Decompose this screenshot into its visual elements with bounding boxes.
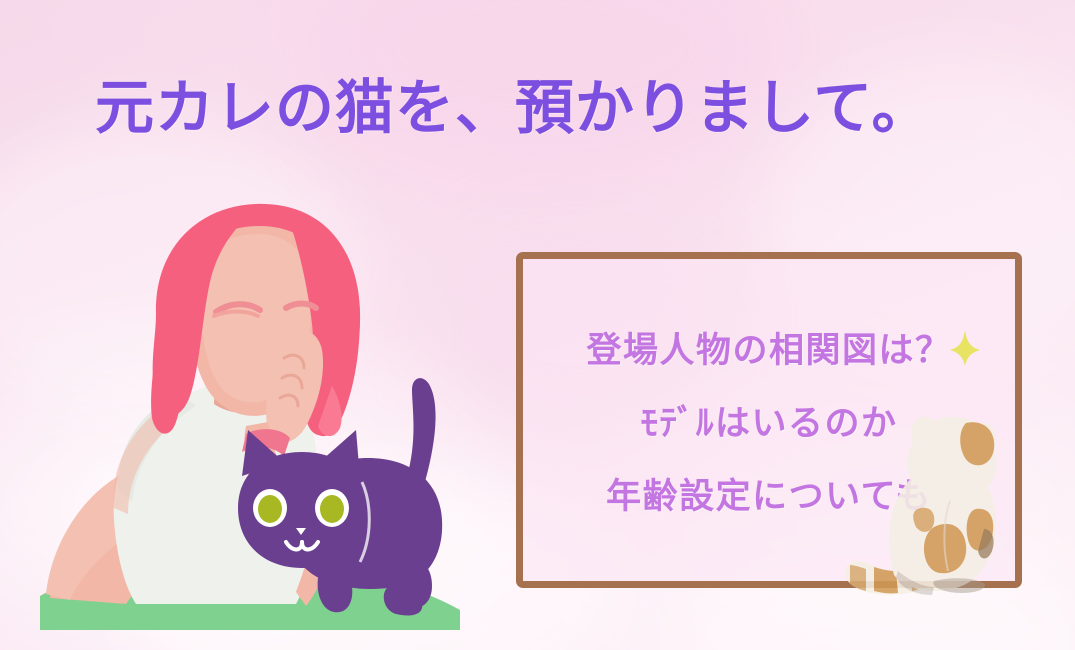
graphic-canvas: 元カレの猫を、預かりまして。: [0, 0, 1075, 650]
woman-with-purple-cat-illustration: [40, 190, 470, 630]
calico-cat-photo: [838, 405, 1038, 620]
page-title: 元カレの猫を、預かりまして。: [95, 78, 975, 140]
